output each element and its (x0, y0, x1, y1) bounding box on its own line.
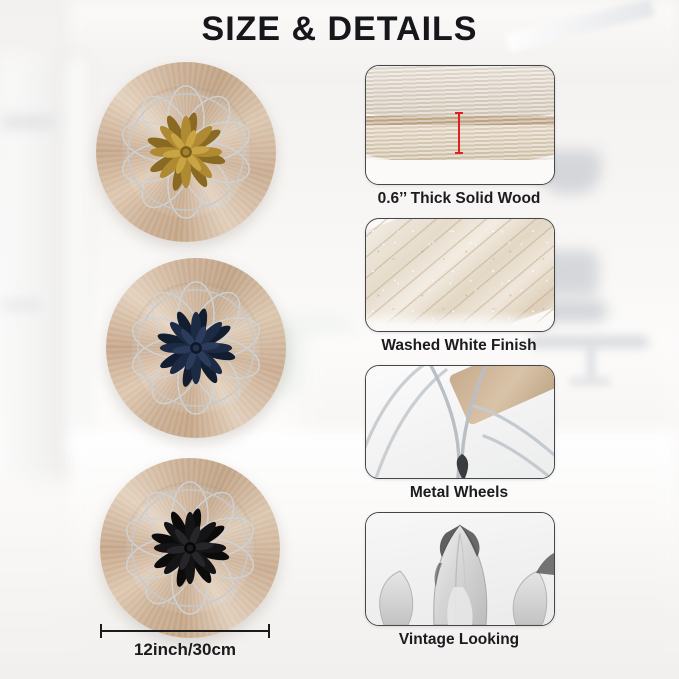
detail-card-washed-white-finish (365, 218, 555, 332)
door-panel-upper (2, 115, 54, 129)
detail-caption-washed-white-finish: Washed White Finish (365, 337, 553, 355)
thickness-marker-icon (458, 112, 460, 154)
detail-caption-metal-wheels: Metal Wheels (365, 484, 553, 502)
decor-piece-navy (106, 258, 286, 438)
metal-flower-navy (154, 306, 238, 390)
measure-line (100, 630, 270, 632)
detail-card-vintage-looking (365, 512, 555, 626)
metal-wire-closeup-icon (366, 366, 554, 478)
detail-card-metal-wheels (365, 365, 555, 479)
size-label: 12inch/30cm (100, 640, 270, 660)
card-fade-bottom (366, 311, 554, 331)
door-frame (62, 58, 86, 458)
measure-cap-right (268, 624, 270, 638)
detail-caption-vintage-looking: Vintage Looking (365, 631, 553, 649)
page-title: SIZE & DETAILS (0, 10, 679, 49)
detail-caption-thick-solid-wood: 0.6’’ Thick Solid Wood (365, 190, 553, 208)
side-table-foot (569, 378, 611, 385)
card-base-white (366, 160, 554, 184)
metal-flower-gold (144, 110, 228, 194)
side-table-stem (587, 346, 595, 380)
metal-flower-black (148, 506, 232, 590)
measure-cap-left (100, 624, 102, 638)
decor-piece-gold (96, 62, 276, 242)
distressed-petal-closeup-icon (366, 513, 554, 625)
door-panel-lower (2, 300, 42, 310)
decor-piece-black (100, 458, 280, 638)
size-measure-bar (100, 624, 270, 638)
detail-card-thick-solid-wood (365, 65, 555, 185)
product-detail-image: SIZE & DETAILS (0, 0, 679, 679)
